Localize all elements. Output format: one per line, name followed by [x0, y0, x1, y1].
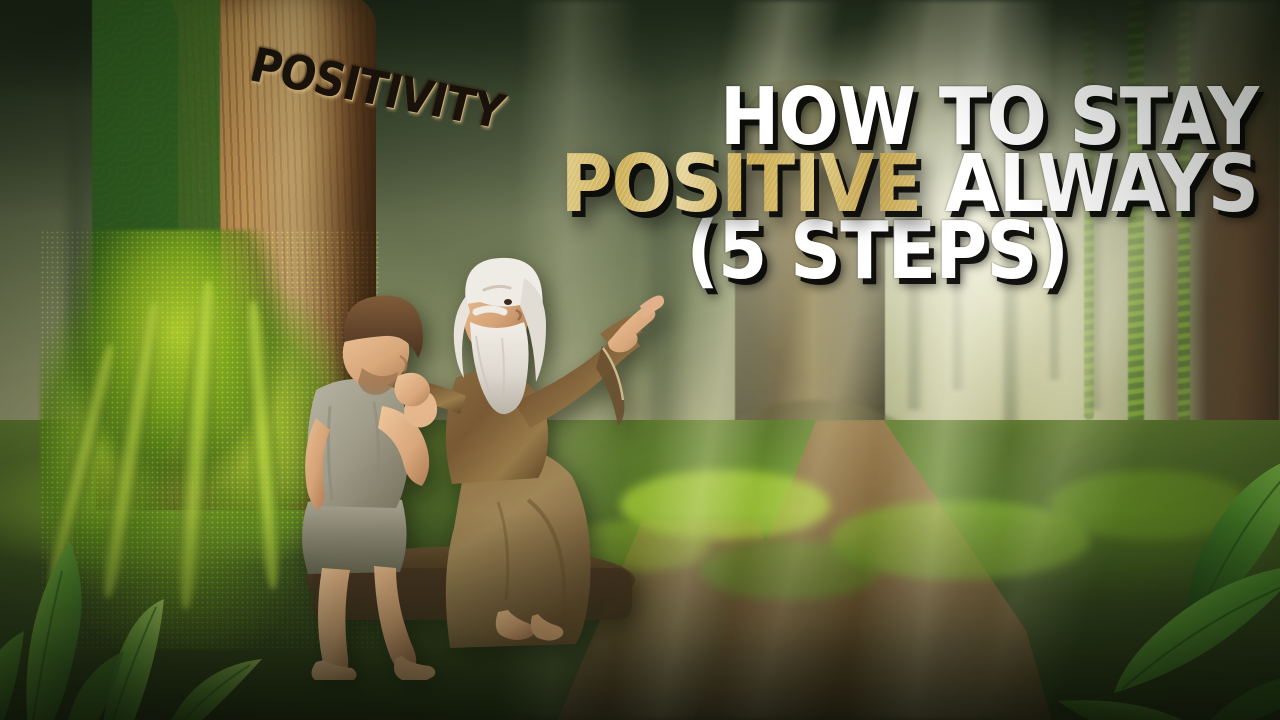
video-thumbnail: POSITIVITY — [0, 0, 1280, 720]
ground-shadow-gradient — [0, 510, 1280, 720]
